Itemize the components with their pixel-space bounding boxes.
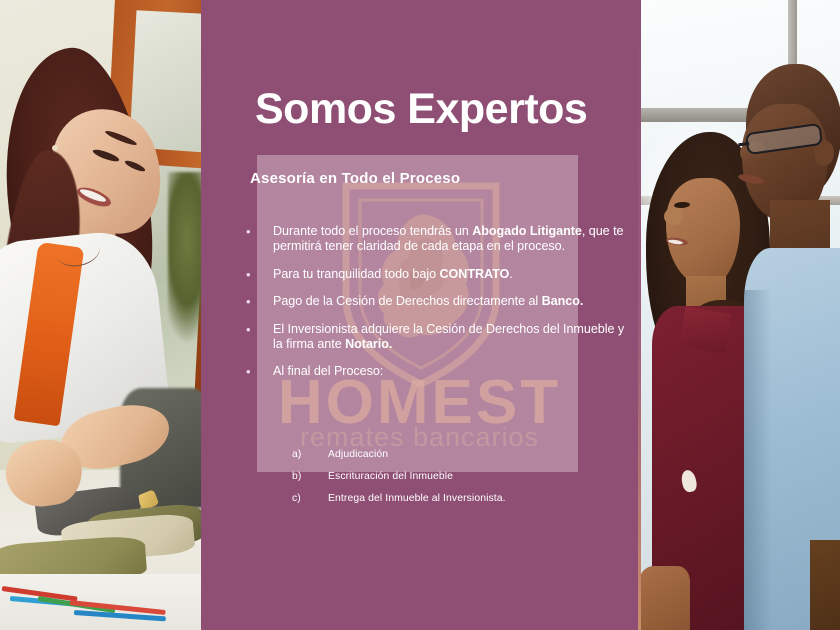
bullet-text-bold: CONTRATO bbox=[440, 267, 510, 281]
sublist-text: Entrega del Inmueble al Inversionista. bbox=[328, 488, 506, 510]
bullet-item: •Pago de la Cesión de Derechos directame… bbox=[243, 294, 633, 309]
bullet-marker: • bbox=[246, 267, 251, 282]
bullet-text-bold: Banco. bbox=[542, 294, 584, 308]
photo-left-edge bbox=[638, 0, 641, 630]
bullet-marker: • bbox=[246, 224, 251, 239]
bullet-text-plain: Pago de la Cesión de Derechos directamen… bbox=[273, 294, 542, 308]
bullet-text-plain: . bbox=[509, 267, 512, 281]
plant bbox=[168, 172, 201, 342]
photo-couple-window bbox=[638, 0, 840, 630]
sublist-text: Escrituración del Inmueble bbox=[328, 466, 453, 488]
bullet-marker: • bbox=[246, 322, 251, 337]
bullet-marker: • bbox=[246, 294, 251, 309]
slide-canvas: HOMEST remates bancarios Somos Expertos … bbox=[0, 0, 840, 630]
man-arm bbox=[810, 540, 840, 630]
bullet-text-plain: Durante todo el proceso tendrás un bbox=[273, 224, 472, 238]
bullet-list: •Durante todo el proceso tendrás un Abog… bbox=[243, 224, 633, 392]
bullet-text: Durante todo el proceso tendrás un Aboga… bbox=[273, 224, 624, 253]
sublist-marker: c) bbox=[292, 488, 314, 510]
man-shirt-shading bbox=[744, 290, 772, 630]
bullet-text: Para tu tranquilidad todo bajo CONTRATO. bbox=[273, 267, 513, 281]
bullet-item: •El Inversionista adquiere la Cesión de … bbox=[243, 322, 633, 353]
sublist-marker: b) bbox=[292, 466, 314, 488]
sublist-item: c)Entrega del Inmueble al Inversionista. bbox=[243, 488, 623, 510]
sublist-item: b)Escrituración del Inmueble bbox=[243, 466, 623, 488]
woman-arm bbox=[638, 566, 690, 630]
bullet-item: •Al final del Proceso: bbox=[243, 364, 633, 379]
sublist-marker: a) bbox=[292, 444, 314, 466]
ordered-sublist: a)Adjudicaciónb)Escrituración del Inmueb… bbox=[243, 444, 623, 510]
sublist-item: a)Adjudicación bbox=[243, 444, 623, 466]
bullet-text: Al final del Proceso: bbox=[273, 364, 383, 378]
section-subtitle: Asesoría en Todo el Proceso bbox=[250, 170, 460, 187]
bullet-item: •Durante todo el proceso tendrás un Abog… bbox=[243, 224, 633, 255]
bullet-text: El Inversionista adquiere la Cesión de D… bbox=[273, 322, 624, 351]
woman-nose bbox=[664, 208, 682, 225]
bullet-marker: • bbox=[246, 364, 251, 379]
bullet-item: •Para tu tranquilidad todo bajo CONTRATO… bbox=[243, 267, 633, 282]
bullet-text-plain: Al final del Proceso: bbox=[273, 364, 383, 378]
sublist-text: Adjudicación bbox=[328, 444, 388, 466]
page-title: Somos Expertos bbox=[255, 88, 587, 131]
content-area: HOMEST remates bancarios Somos Expertos … bbox=[201, 0, 638, 630]
bullet-text-plain: Para tu tranquilidad todo bajo bbox=[273, 267, 440, 281]
bullet-text: Pago de la Cesión de Derechos directamen… bbox=[273, 294, 583, 308]
bullet-text-plain: El Inversionista adquiere la Cesión de D… bbox=[273, 322, 624, 351]
woman-collar bbox=[679, 306, 731, 353]
photo-woman-fabric-swatches bbox=[0, 0, 201, 630]
bullet-text-bold: Abogado Litigante bbox=[472, 224, 582, 238]
bullet-text-bold: Notario. bbox=[345, 337, 392, 351]
